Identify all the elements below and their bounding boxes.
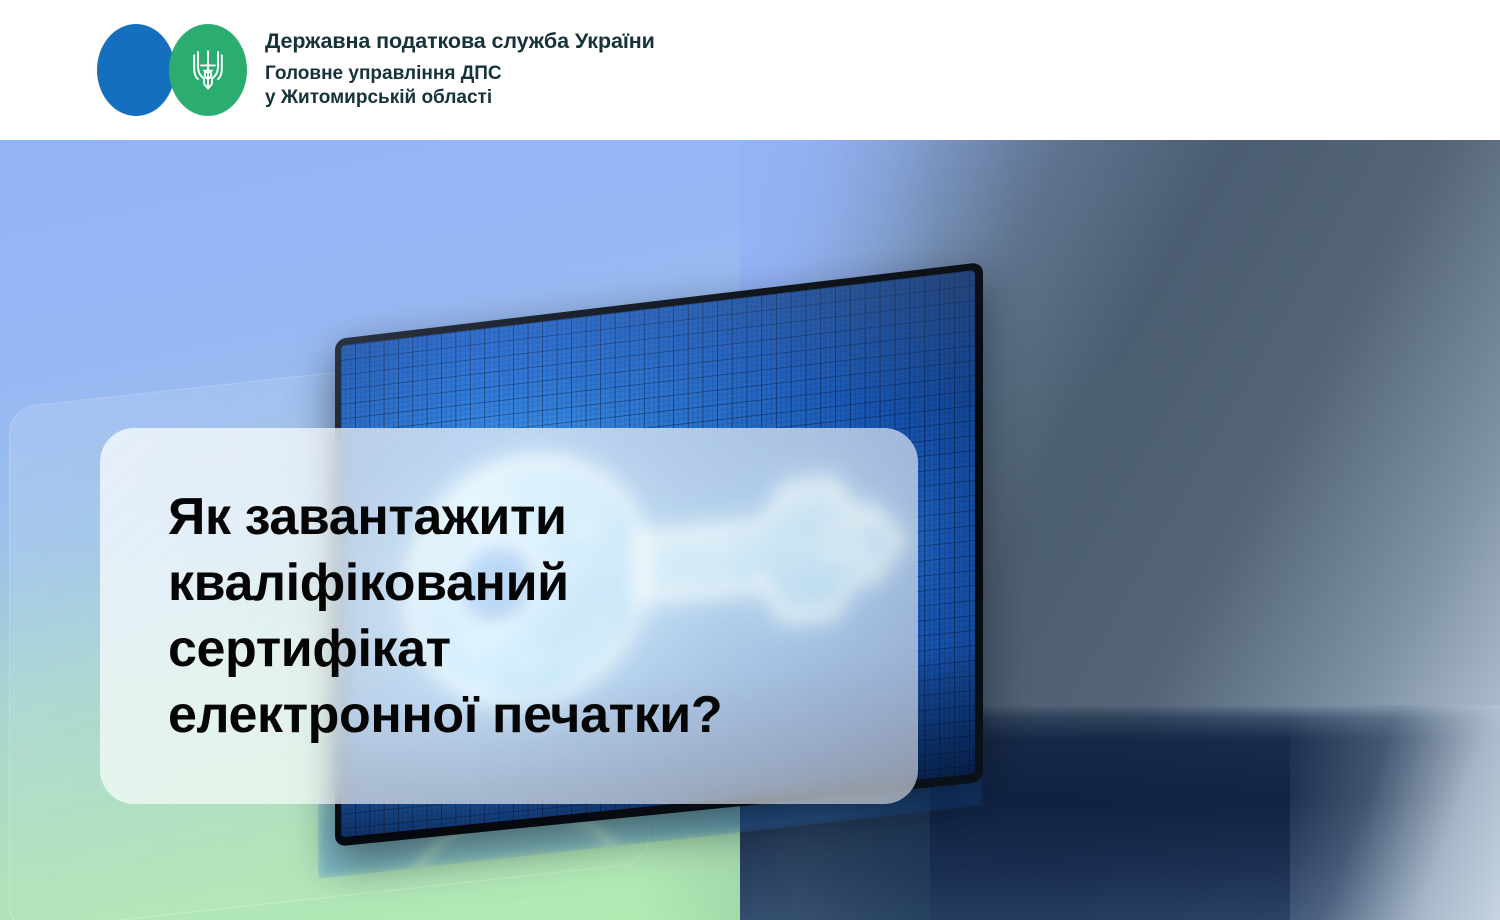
agency-logo bbox=[97, 24, 247, 116]
page-title-line-4: електронної печатки? bbox=[168, 682, 722, 748]
logo-blue-circle-icon bbox=[97, 24, 175, 116]
page-title-line-2: кваліфікований bbox=[168, 550, 722, 616]
background-desk-highlight bbox=[1290, 705, 1500, 920]
agency-title: Державна податкова служба України bbox=[265, 29, 655, 55]
agency-department-line1: Головне управління ДПС bbox=[265, 63, 502, 84]
site-header: Державна податкова служба України Головн… bbox=[0, 0, 1500, 140]
agency-department: Головне управління ДПС у Житомирській об… bbox=[265, 62, 655, 111]
page-title-line-3: сертифікат bbox=[168, 616, 722, 682]
agency-name-block: Державна податкова служба України Головн… bbox=[265, 29, 655, 110]
page-title: Як завантажити кваліфікований сертифікат… bbox=[100, 484, 752, 748]
poster-canvas: Державна податкова служба України Головн… bbox=[0, 0, 1500, 920]
agency-department-line2: у Житомирській області bbox=[265, 87, 492, 108]
page-title-line-1: Як завантажити bbox=[168, 484, 722, 550]
hero-stage: Як завантажити кваліфікований сертифікат… bbox=[0, 140, 1500, 920]
ukrainian-trident-emblem-icon bbox=[191, 48, 225, 94]
title-card: Як завантажити кваліфікований сертифікат… bbox=[100, 428, 918, 804]
